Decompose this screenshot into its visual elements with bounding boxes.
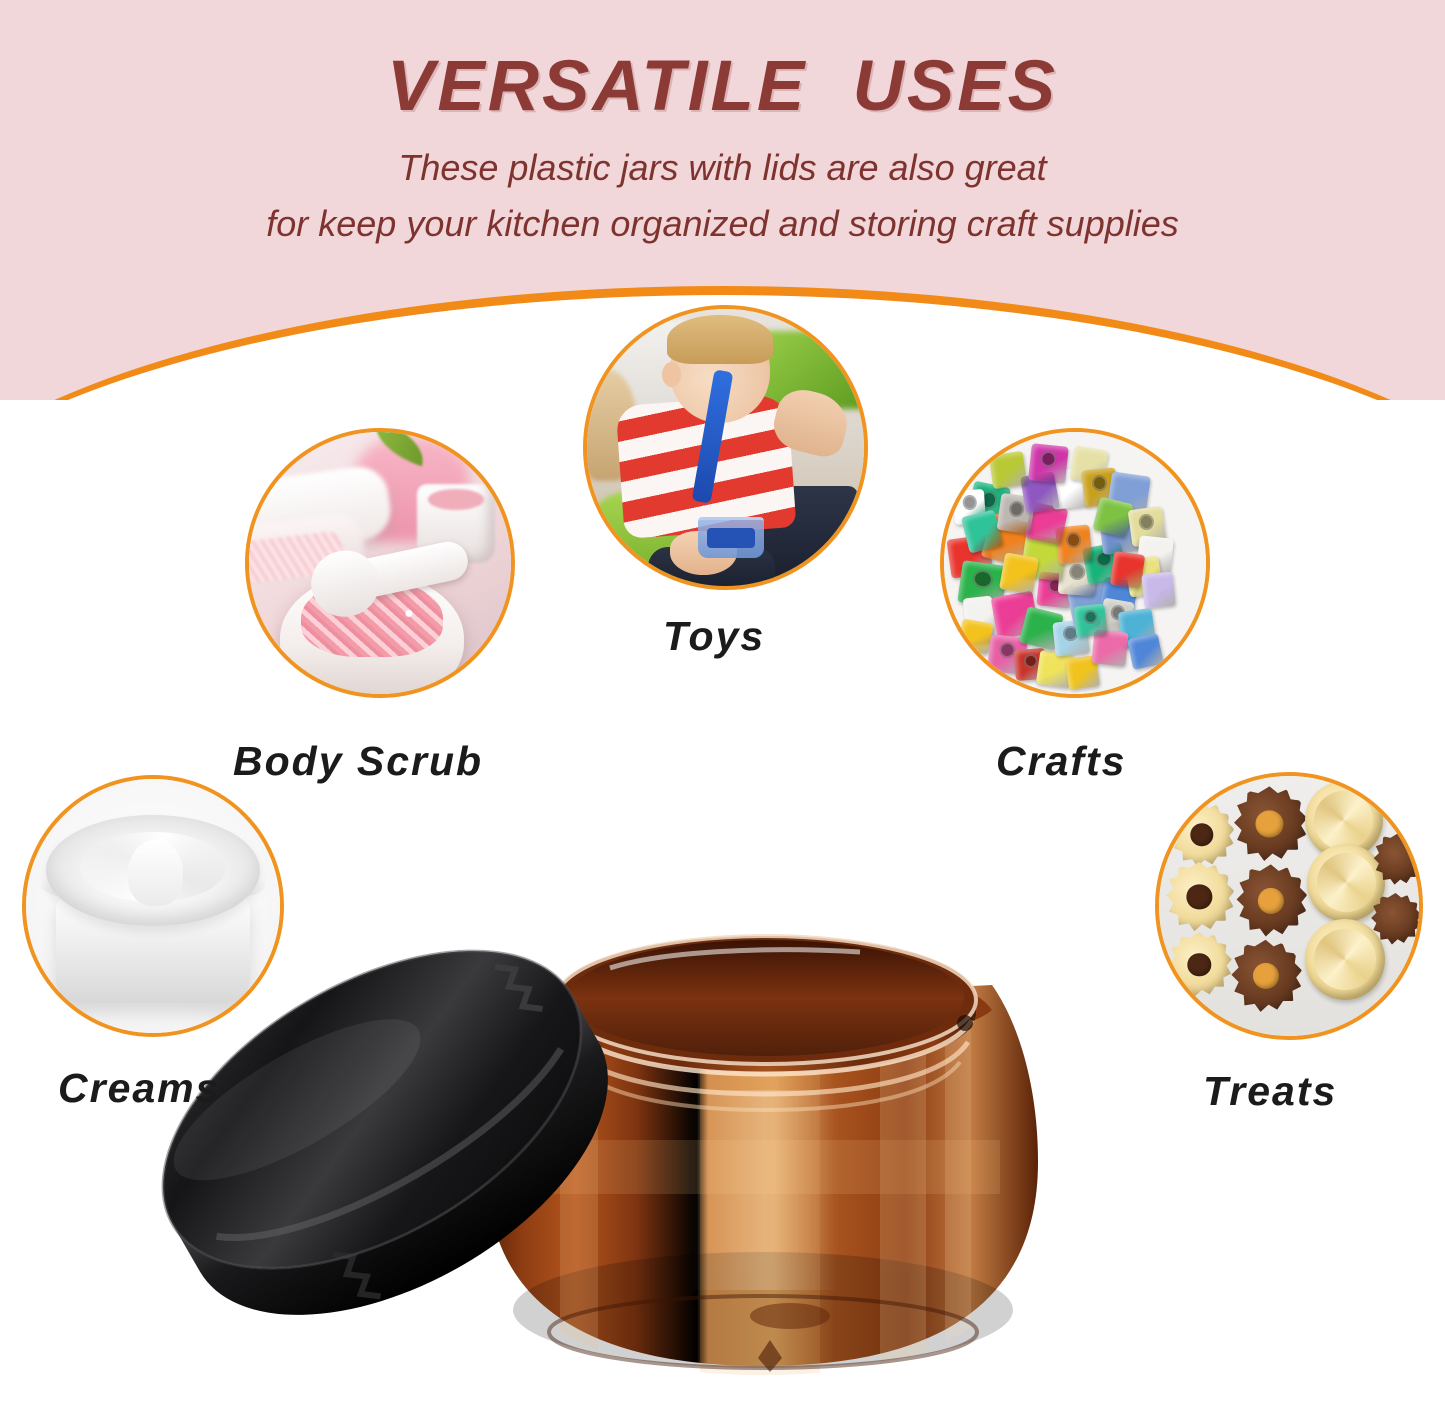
treat-cookie xyxy=(1229,940,1302,1013)
jar-base-dimple xyxy=(750,1303,830,1329)
category-label-treats: Treats xyxy=(1203,1068,1337,1115)
cookie-center xyxy=(1187,884,1212,909)
treat-cookie xyxy=(1169,802,1234,867)
craft-bead xyxy=(957,618,993,654)
jar-shoulder xyxy=(536,962,992,1046)
cookie-center xyxy=(1252,963,1278,989)
page-title: VERSATILE USES xyxy=(0,46,1445,127)
category-label-creams: Creams xyxy=(58,1065,220,1112)
cookie-center xyxy=(1258,888,1284,914)
lid-side-wall xyxy=(173,995,661,1381)
craft-bead xyxy=(1127,633,1164,670)
cookie-center xyxy=(1188,953,1211,976)
toys-child-hair xyxy=(667,315,772,365)
treat-cookie xyxy=(1167,932,1232,997)
jar-base-shadow xyxy=(513,1252,1013,1368)
creams-photo xyxy=(26,779,280,1033)
category-image-body-scrub xyxy=(245,428,515,698)
lid-edge-sheen xyxy=(217,1040,580,1276)
toys-photo xyxy=(587,309,864,586)
header-text-group: VERSATILE USES These plastic jars with l… xyxy=(0,0,1445,251)
lid-ribbed-edge xyxy=(249,957,626,1306)
cookie-swirl xyxy=(1317,853,1376,912)
treat-cookie xyxy=(1307,844,1385,922)
treat-cookie xyxy=(1164,862,1234,932)
treat-cookie xyxy=(1305,919,1386,1000)
body-scrub-photo xyxy=(249,432,511,694)
treat-cookie xyxy=(1232,786,1307,861)
category-image-treats xyxy=(1155,772,1423,1040)
thread-notch xyxy=(957,1015,973,1031)
cookie-swirl xyxy=(1314,791,1373,850)
amber-jar xyxy=(488,936,1038,1380)
category-label-toys: Toys xyxy=(663,613,765,660)
jar-rim-gloss xyxy=(610,950,860,968)
thread-ring-2 xyxy=(564,1042,968,1094)
cream-peak xyxy=(128,840,184,906)
subtitle-line-2: for keep your kitchen organized and stor… xyxy=(0,197,1445,251)
category-label-body-scrub: Body Scrub xyxy=(233,738,483,785)
thread-ring-1 xyxy=(560,1020,972,1074)
jar-facet-highlights xyxy=(520,980,1000,1380)
jar-gloss-streak xyxy=(690,1090,840,1290)
toys-child-ear xyxy=(662,362,681,387)
treat-cookie xyxy=(1234,864,1307,937)
craft-bead xyxy=(1109,550,1145,588)
craft-bead xyxy=(1029,443,1069,483)
craft-bead xyxy=(1141,572,1176,609)
thread-ring-3 xyxy=(572,1062,960,1110)
subtitle-line-1: These plastic jars with lids are also gr… xyxy=(0,141,1445,195)
category-image-toys xyxy=(583,305,868,590)
category-image-creams xyxy=(22,775,284,1037)
craft-bead xyxy=(989,451,1027,489)
crafts-photo xyxy=(944,432,1206,694)
toys-slime-tub xyxy=(698,517,764,559)
treats-photo xyxy=(1159,776,1419,1036)
jar-neck-threads xyxy=(556,936,976,1110)
cookie-center xyxy=(1190,823,1213,846)
cookie-swirl xyxy=(1314,929,1375,990)
category-label-crafts: Crafts xyxy=(996,738,1126,785)
cookie-center xyxy=(1256,811,1283,838)
jar-body xyxy=(488,985,1038,1366)
jar-base-gate-mark xyxy=(758,1340,782,1372)
craft-bead xyxy=(999,552,1039,594)
category-image-crafts xyxy=(940,428,1210,698)
jar-base-ring xyxy=(549,1296,977,1368)
craft-bead xyxy=(1073,603,1108,638)
